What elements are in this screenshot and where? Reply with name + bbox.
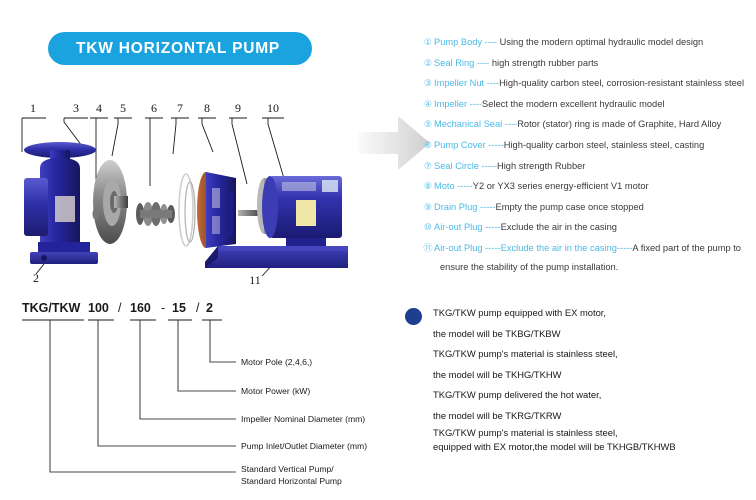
legend-item: ⑤ Mechanical Seal ----Rotor (stator) rin… bbox=[422, 115, 752, 134]
pump-cover-graphic bbox=[197, 172, 236, 248]
model-seg-series: TKG/TKW bbox=[22, 301, 81, 315]
note-line: the model will be TKHG/TKHW bbox=[433, 365, 753, 386]
legend-number: ⑨ bbox=[422, 198, 434, 217]
impeller-nut-graphic bbox=[93, 208, 100, 220]
legend-item: ① Pump Body ---- Using the modern optima… bbox=[422, 33, 752, 52]
callout-5: 5 bbox=[120, 101, 126, 115]
legend-dash: ---- bbox=[474, 58, 492, 68]
callout-2: 2 bbox=[33, 271, 39, 285]
model-label-impeller-dia: Impeller Nominal Diameter (mm) bbox=[241, 414, 365, 424]
model-label-standard-2: Standard Horizontal Pump bbox=[241, 476, 342, 486]
legend-number: ④ bbox=[422, 95, 434, 114]
callout-11: 11 bbox=[249, 273, 261, 287]
legend-description: Empty the pump case once stopped bbox=[496, 202, 644, 212]
legend-part-name: Impeller Nut bbox=[434, 78, 484, 88]
legend-dash: ----- bbox=[483, 222, 501, 232]
note-line: equipped with EX motor,the model will be… bbox=[433, 440, 753, 454]
legend-item: ⑩ Air-out Plug -----Exclude the air in t… bbox=[422, 218, 752, 237]
legend-number: ⑩ bbox=[422, 218, 434, 237]
note-line: TKG/TKW pump's material is stainless ste… bbox=[433, 426, 753, 440]
base-plate-graphic bbox=[205, 246, 348, 268]
legend-description: Y2 or YX3 series energy-efficient V1 mot… bbox=[473, 181, 649, 191]
callout-4: 4 bbox=[96, 101, 102, 115]
legend-part-name: Impeller bbox=[434, 99, 467, 109]
pump-body-graphic bbox=[24, 142, 98, 264]
legend-number: ⑪ bbox=[422, 239, 434, 258]
right-arrow-icon bbox=[356, 112, 432, 179]
seal-ring-graphic bbox=[179, 174, 195, 246]
legend-item: ③ Impeller Nut ----High-quality carbon s… bbox=[422, 74, 752, 93]
legend-dash: ---- bbox=[484, 78, 499, 88]
legend-item: ⑥ Pump Cover -----High-quality carbon st… bbox=[422, 136, 752, 155]
legend-number: ③ bbox=[422, 74, 434, 93]
legend-part-name: Seal Ring bbox=[434, 58, 474, 68]
legend-number: ⑤ bbox=[422, 115, 434, 134]
model-code-breakdown: TKG/TKW 100 / 160 - 15 / 2 bbox=[0, 295, 400, 495]
legend-description: Select the modern excellent hydraulic mo… bbox=[482, 99, 664, 109]
legend-number: ⑧ bbox=[422, 177, 434, 196]
legend-description: High-quality carbon steel, corrosion-res… bbox=[499, 78, 744, 88]
callout-3: 3 bbox=[73, 101, 79, 115]
legend-number: ① bbox=[422, 33, 434, 52]
legend-dash: ---- bbox=[482, 37, 500, 47]
model-label-motor-power: Motor Power (kW) bbox=[241, 386, 310, 396]
model-sep-3: / bbox=[196, 301, 200, 315]
legend-item: ⑧ Moto -----Y2 or YX3 series energy-effi… bbox=[422, 177, 752, 196]
legend-description: Using the modern optimal hydraulic model… bbox=[500, 37, 704, 47]
legend-part-name: Drain Plug bbox=[434, 202, 477, 212]
legend-description: Rotor (stator) ring is made of Graphite,… bbox=[517, 119, 721, 129]
legend-item: ⑦ Seal Circle -----High strength Rubber bbox=[422, 157, 752, 176]
legend-part-name: Pump Body bbox=[434, 37, 482, 47]
callout-7: 7 bbox=[177, 101, 183, 115]
page-root: TKW HORIZONTAL PUMP bbox=[0, 0, 756, 500]
callout-6: 6 bbox=[151, 101, 157, 115]
legend-part-name: Pump Cover bbox=[434, 140, 486, 150]
note-line: TKG/TKW pump delivered the hot water, bbox=[433, 385, 753, 406]
note-line: TKG/TKW pump's material is stainless ste… bbox=[433, 344, 753, 365]
legend-description: High-quality carbon steel, stainless ste… bbox=[504, 140, 705, 150]
motor-graphic bbox=[238, 176, 342, 246]
note-line: TKG/TKW pump equipped with EX motor, bbox=[433, 303, 753, 324]
legend-item: ④ Impeller ----Select the modern excelle… bbox=[422, 95, 752, 114]
callout-9: 9 bbox=[235, 101, 241, 115]
legend-part-name: Air-out Plug bbox=[434, 222, 483, 232]
note-line: the model will be TKRG/TKRW bbox=[433, 406, 753, 427]
callout-1: 1 bbox=[30, 101, 36, 115]
model-code-labels: Motor Pole (2,4,6,) Motor Power (kW) Imp… bbox=[241, 357, 367, 486]
legend-number: ⑥ bbox=[422, 136, 434, 155]
model-seg-inlet: 100 bbox=[88, 301, 109, 315]
callout-10: 10 bbox=[267, 101, 279, 115]
model-label-inlet-dia: Pump Inlet/Outlet Diameter (mm) bbox=[241, 441, 367, 451]
legend-description: A fixed part of the pump to bbox=[632, 243, 741, 253]
legend-part-name: Air-out Plug bbox=[434, 243, 483, 253]
legend-description-wrap: ensure the stability of the pump install… bbox=[434, 258, 752, 277]
legend-part-name: Moto bbox=[434, 181, 455, 191]
legend-description: Exclude the air in the casing bbox=[501, 222, 617, 232]
legend-part-name: Mechanical Seal bbox=[434, 119, 502, 129]
legend-description-secondary: Exclude the air in the casing----- bbox=[501, 243, 633, 253]
parts-legend-list: ① Pump Body ---- Using the modern optima… bbox=[422, 33, 752, 278]
legend-dash: ----- bbox=[479, 161, 497, 171]
legend-dash: ----- bbox=[455, 181, 473, 191]
model-label-motor-pole: Motor Pole (2,4,6,) bbox=[241, 357, 312, 367]
note-line: the model will be TKBG/TKBW bbox=[433, 324, 753, 345]
model-label-standard-1: Standard Vertical Pump/ bbox=[241, 464, 334, 474]
model-code-text: TKG/TKW 100 / 160 - 15 / 2 bbox=[22, 301, 213, 315]
legend-number: ② bbox=[422, 54, 434, 73]
legend-dash: ----- bbox=[483, 243, 501, 253]
model-seg-impeller: 160 bbox=[130, 301, 151, 315]
model-variant-notes: TKG/TKW pump equipped with EX motor, the… bbox=[405, 303, 753, 454]
legend-description: high strength rubber parts bbox=[492, 58, 598, 68]
impeller-graphic bbox=[93, 160, 128, 244]
legend-item: ② Seal Ring ---- high strength rubber pa… bbox=[422, 54, 752, 73]
legend-dash: ---- bbox=[502, 119, 517, 129]
legend-item: ⑨ Drain Plug -----Empty the pump case on… bbox=[422, 198, 752, 217]
model-leader-lines bbox=[50, 320, 236, 472]
legend-dash: ----- bbox=[486, 140, 504, 150]
legend-dash: ---- bbox=[467, 99, 482, 109]
legend-dash: ----- bbox=[477, 202, 495, 212]
exploded-pump-diagram: 1 3 4 5 6 7 8 9 10 2 11 bbox=[0, 92, 400, 292]
callout-8: 8 bbox=[204, 101, 210, 115]
page-title: TKW HORIZONTAL PUMP bbox=[76, 40, 280, 58]
model-sep-2: - bbox=[161, 301, 165, 315]
legend-description: High strength Rubber bbox=[497, 161, 585, 171]
model-seg-power: 15 bbox=[172, 301, 186, 315]
legend-number: ⑦ bbox=[422, 157, 434, 176]
mechanical-seal-graphic bbox=[136, 202, 175, 226]
page-title-pill: TKW HORIZONTAL PUMP bbox=[48, 32, 312, 65]
bullet-dot-icon bbox=[405, 308, 422, 325]
legend-part-name: Seal Circle bbox=[434, 161, 479, 171]
model-seg-pole: 2 bbox=[206, 301, 213, 315]
model-sep-1: / bbox=[118, 301, 122, 315]
legend-item: ⑪ Air-out Plug -----Exclude the air in t… bbox=[422, 239, 752, 276]
